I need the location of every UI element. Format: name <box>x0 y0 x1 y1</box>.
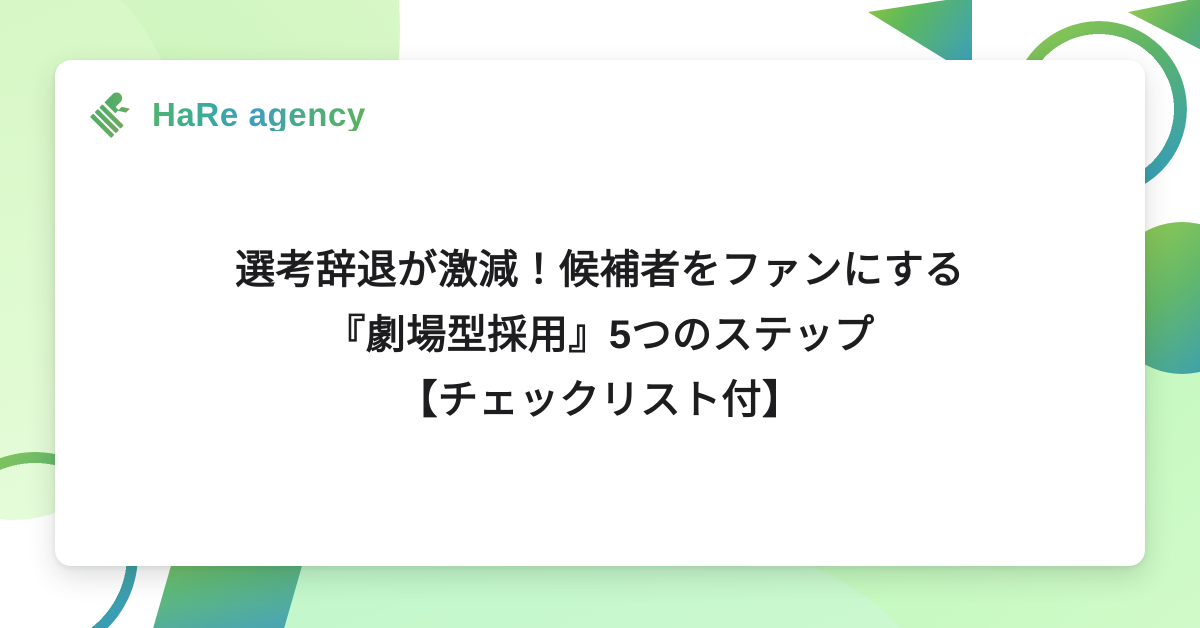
page-title-line-3: 【チェックリスト付】 <box>95 368 1105 433</box>
ogp-canvas: HaRe agency 選考辞退が激減！候補者をファンにする 『劇場型採用』5つ… <box>0 0 1200 628</box>
page-title-line-2: 『劇場型採用』5つのステップ <box>95 303 1105 368</box>
page-title: 選考辞退が激減！候補者をファンにする 『劇場型採用』5つのステップ 【チェックリ… <box>55 238 1145 432</box>
brand-wordmark: HaRe agency <box>152 98 366 131</box>
content-card: HaRe agency 選考辞退が激減！候補者をファンにする 『劇場型採用』5つ… <box>55 60 1145 566</box>
hare-agency-logo-mark-icon <box>90 90 138 138</box>
brand-logo: HaRe agency <box>90 90 366 138</box>
page-title-line-1: 選考辞退が激減！候補者をファンにする <box>95 238 1105 303</box>
